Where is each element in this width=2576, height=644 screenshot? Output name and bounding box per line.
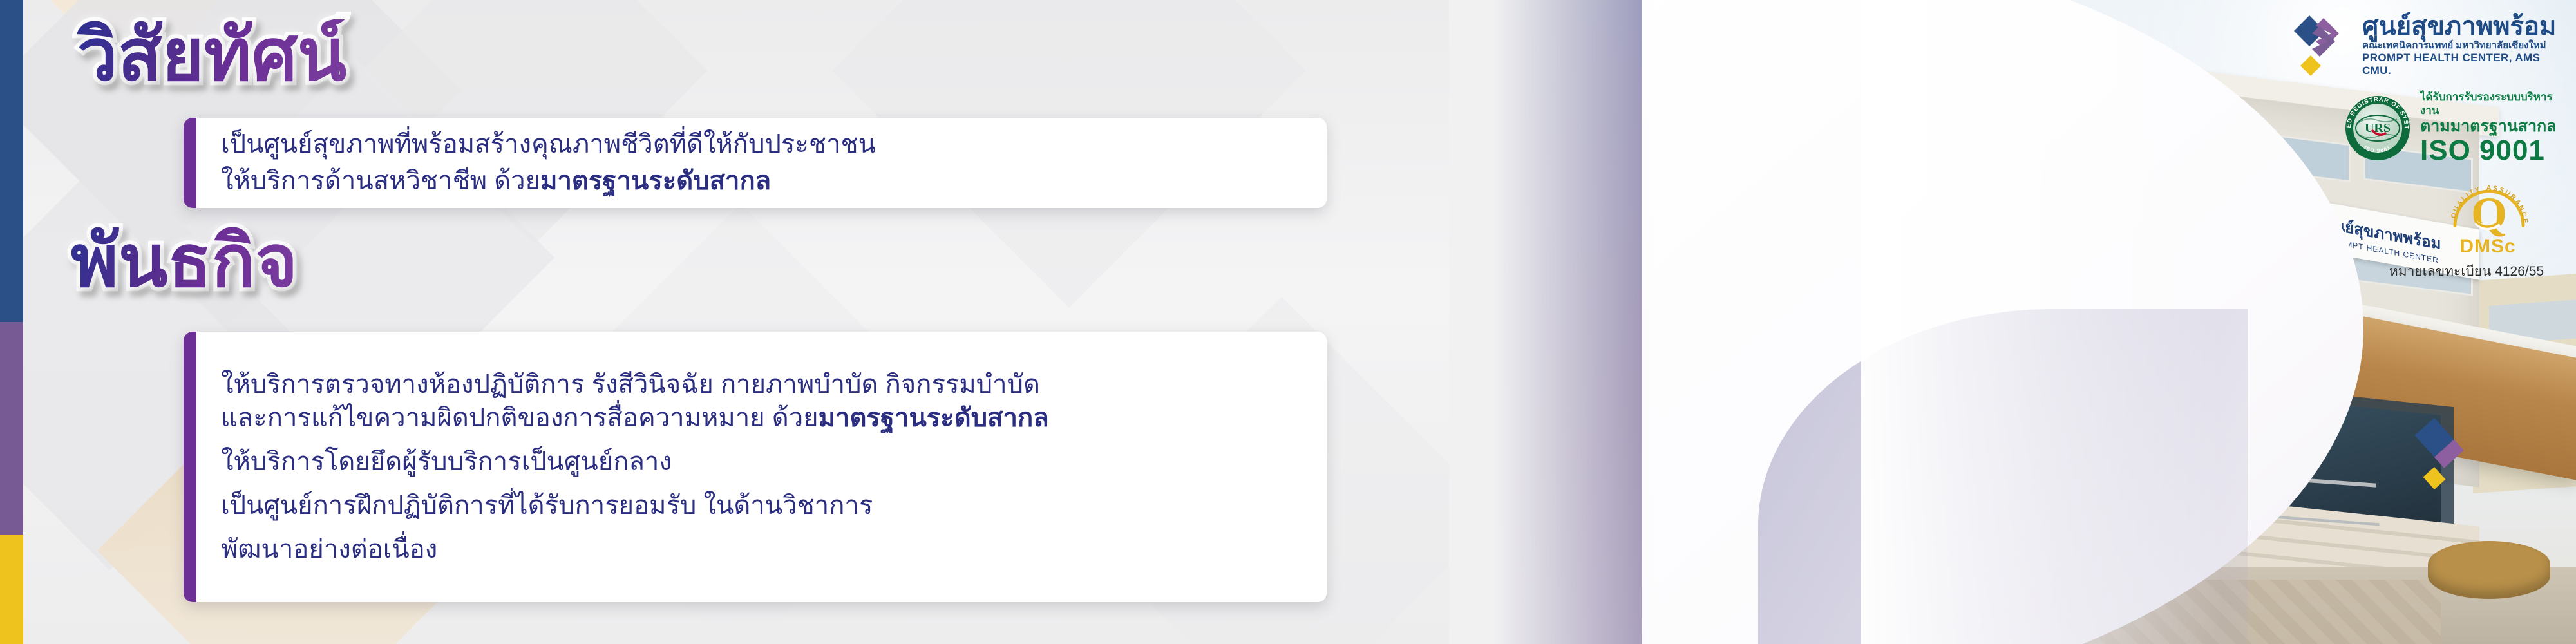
iso-text: ได้รับการรับรองระบบบริหารงาน ตามมาตรฐานส… (2420, 91, 2571, 166)
mission-line-bold: มาตรฐานระดับสากล (819, 404, 1049, 432)
mission-item: ให้บริการโดยยึดผู้รับบริการเป็นศูนย์กลาง (221, 445, 1049, 478)
overlay-wave-haze (1861, 0, 2222, 644)
mission-line: พัฒนาอย่างต่อเนื่อง (221, 533, 1049, 566)
mission-line-text: พัฒนาอย่างต่อเนื่อง (221, 535, 437, 563)
svg-text:DMSc: DMSc (2459, 236, 2515, 257)
diamond-chevron-logo-icon (2294, 13, 2353, 77)
iso-certification-badge: UNITED REGISTRAR OF SYSTEMS ISO 9001 URS… (2344, 90, 2571, 166)
dmsc-quality-assurance-seal-icon: QUALITY ASSURANCE Q DMSc (2447, 173, 2531, 258)
vision-card-body: เป็นศูนย์สุขภาพที่พร้อมสร้างคุณภาพชีวิตท… (196, 118, 898, 208)
vision-line-bold: มาตรฐานระดับสากล (540, 167, 771, 195)
vision-line: ให้บริการด้านสหวิชาชีพ ด้วยมาตรฐานระดับส… (221, 163, 876, 200)
mission-line-text: และการแก้ไขความผิดปกติของการสื่อความหมาย… (221, 404, 819, 432)
mission-item: พัฒนาอย่างต่อเนื่อง (221, 533, 1049, 566)
vision-card-accent (184, 118, 196, 208)
vision-mission-banner: ศูนย์สุขภาพพร้อม PROMPT HEALTH CENTER คณ… (0, 0, 2576, 644)
vision-line-text: ให้บริการด้านสหวิชาชีพ ด้วย (221, 167, 540, 195)
brand-name-th: ศูนย์สุขภาพพร้อม (2362, 13, 2571, 40)
mission-card-accent (184, 332, 196, 602)
vision-card: เป็นศูนย์สุขภาพที่พร้อมสร้างคุณภาพชีวิตท… (184, 118, 1327, 208)
mission-line: ให้บริการโดยยึดผู้รับบริการเป็นศูนย์กลาง (221, 445, 1049, 478)
mission-line: ให้บริการตรวจทางห้องปฏิบัติการ รังสีวินิ… (221, 368, 1049, 401)
mission-line: เป็นศูนย์การฝึกปฏิบัติการที่ได้รับการยอม… (221, 489, 1049, 522)
overlay-wave-leftfade (1449, 0, 1655, 644)
mission-line-text: ให้บริการโดยยึดผู้รับบริการเป็นศูนย์กลาง (221, 448, 672, 476)
mission-line: และการแก้ไขความผิดปกติของการสื่อความหมาย… (221, 401, 1049, 435)
vision-line-text: เป็นศูนย์สุขภาพที่พร้อมสร้างคุณภาพชีวิตท… (221, 130, 876, 158)
dmsc-registration-number: หมายเลขทะเบียน 4126/55 (2370, 261, 2563, 282)
mission-line-text: ให้บริการตรวจทางห้องปฏิบัติการ รังสีวินิ… (221, 370, 1040, 399)
mission-card: ให้บริการตรวจทางห้องปฏิบัติการ รังสีวินิ… (184, 332, 1327, 602)
iso-line3: ISO 9001 (2420, 136, 2571, 166)
edge-bar-purple (0, 322, 23, 535)
vision-title: วิสัยทัศน์ (77, 19, 346, 91)
photo-entrance-logo (2396, 408, 2473, 494)
edge-bar-gold (0, 535, 23, 644)
mission-line-text: เป็นศูนย์การฝึกปฏิบัติการที่ได้รับการยอม… (221, 491, 873, 520)
iso-line2: ตามมาตรฐานสากล (2420, 117, 2571, 136)
brand-text: ศูนย์สุขภาพพร้อม คณะเทคนิคการแพทย์ มหาวิ… (2362, 13, 2571, 78)
urs-registrar-seal-icon: UNITED REGISTRAR OF SYSTEMS ISO 9001 URS (2344, 95, 2411, 162)
iso-line1: ได้รับการรับรองระบบบริหารงาน (2420, 91, 2571, 117)
brand-logo: ศูนย์สุขภาพพร้อม คณะเทคนิคการแพทย์ มหาวิ… (2294, 9, 2571, 81)
photo-planter (2428, 541, 2550, 599)
brand-faculty-th: คณะเทคนิคการแพทย์ มหาวิทยาลัยเชียงใหม่ (2362, 40, 2571, 52)
mission-item: ให้บริการตรวจทางห้องปฏิบัติการ รังสีวินิ… (221, 368, 1049, 435)
edge-bar-navy (0, 0, 23, 322)
vision-line: เป็นศูนย์สุขภาพที่พร้อมสร้างคุณภาพชีวิตท… (221, 126, 876, 163)
mission-item: เป็นศูนย์การฝึกปฏิบัติการที่ได้รับการยอม… (221, 489, 1049, 522)
brand-name-en: PROMPT HEALTH CENTER, AMS CMU. (2362, 52, 2571, 78)
svg-text:Q: Q (2471, 188, 2507, 240)
mission-card-body: ให้บริการตรวจทางห้องปฏิบัติการ รังสีวินิ… (196, 332, 1071, 602)
mission-title: พันธกิจ (71, 225, 298, 298)
